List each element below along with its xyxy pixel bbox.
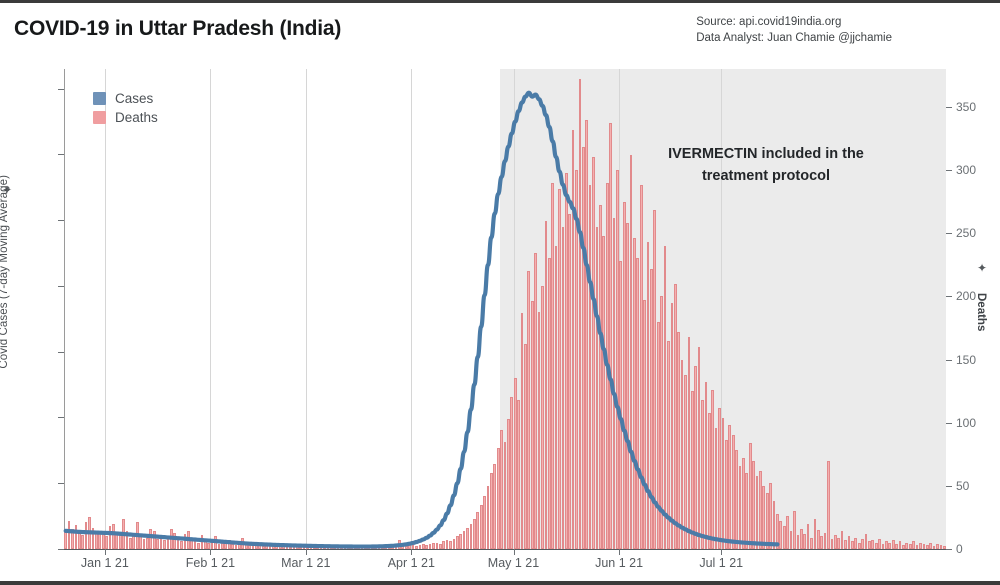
page-title: COVID-19 in Uttar Pradesh (India) bbox=[14, 17, 341, 41]
legend-swatch-deaths bbox=[93, 111, 106, 124]
chart-root: COVID-19 in Uttar Pradesh (India) Source… bbox=[0, 0, 1000, 585]
y-axis-right-tick-label: 350 bbox=[956, 100, 976, 114]
x-axis-line bbox=[64, 549, 946, 550]
y-axis-right-tick bbox=[946, 107, 952, 108]
y-axis-right-tick-label: 150 bbox=[956, 353, 976, 367]
annotation-line-2: treatment protocol bbox=[616, 165, 916, 187]
y-axis-right-tick bbox=[946, 360, 952, 361]
y-axis-right-tick-label: 50 bbox=[956, 479, 969, 493]
x-axis-tick bbox=[721, 549, 722, 555]
y-axis-right-tick bbox=[946, 170, 952, 171]
x-axis-tick-label: Feb 1 21 bbox=[186, 556, 235, 570]
x-axis-tick bbox=[411, 549, 412, 555]
source-attribution: Source: api.covid19india.org Data Analys… bbox=[696, 14, 892, 46]
y-axis-left-title: Covid Cases (7-day Moving Average) bbox=[0, 175, 14, 369]
pin-icon-right-axis[interactable]: ✦ bbox=[977, 261, 987, 275]
y-axis-right-tick-label: 100 bbox=[956, 416, 976, 430]
ivermectin-annotation: IVERMECTIN included in the treatment pro… bbox=[616, 143, 916, 187]
x-axis-tick-label: Jun 1 21 bbox=[595, 556, 643, 570]
y-axis-right-title: Deaths bbox=[975, 293, 987, 331]
x-axis-tick-label: Mar 1 21 bbox=[281, 556, 330, 570]
x-axis-tick bbox=[619, 549, 620, 555]
cases-line-layer bbox=[64, 69, 946, 549]
x-axis-tick bbox=[306, 549, 307, 555]
x-axis-tick-label: Jan 1 21 bbox=[81, 556, 129, 570]
y-axis-right-tick bbox=[946, 423, 952, 424]
y-axis-left-tick bbox=[58, 417, 64, 418]
legend-item-cases[interactable]: Cases bbox=[93, 89, 158, 108]
y-axis-right-tick bbox=[946, 233, 952, 234]
legend-swatch-cases bbox=[93, 92, 106, 105]
y-axis-left-tick bbox=[58, 352, 64, 353]
y-axis-right-tick bbox=[946, 549, 952, 550]
x-axis-tick-label: Apr 1 21 bbox=[388, 556, 435, 570]
x-axis-tick-label: Jul 1 21 bbox=[699, 556, 743, 570]
y-axis-right-tick-label: 200 bbox=[956, 289, 976, 303]
source-line: Source: api.covid19india.org bbox=[696, 14, 892, 30]
annotation-line-1: IVERMECTIN included in the bbox=[616, 143, 916, 165]
y-axis-right-tick-label: 250 bbox=[956, 226, 976, 240]
y-axis-left-tick bbox=[58, 154, 64, 155]
y-axis-left-tick bbox=[58, 549, 64, 550]
y-axis-left-tick bbox=[58, 89, 64, 90]
legend-label-deaths: Deaths bbox=[115, 110, 158, 125]
x-axis-tick bbox=[210, 549, 211, 555]
y-axis-right-tick bbox=[946, 296, 952, 297]
x-axis-tick-label: May 1 21 bbox=[488, 556, 539, 570]
x-axis-tick bbox=[105, 549, 106, 555]
y-axis-right-tick-label: 300 bbox=[956, 163, 976, 177]
analyst-line: Data Analyst: Juan Chamie @jjchamie bbox=[696, 30, 892, 46]
y-axis-left-tick bbox=[58, 483, 64, 484]
plot-area bbox=[64, 69, 946, 549]
y-axis-right-tick bbox=[946, 486, 952, 487]
legend: Cases Deaths bbox=[93, 89, 158, 127]
x-axis-tick bbox=[514, 549, 515, 555]
legend-label-cases: Cases bbox=[115, 91, 153, 106]
y-axis-left-tick bbox=[58, 286, 64, 287]
y-axis-left-tick bbox=[58, 220, 64, 221]
y-axis-right-tick-label: 0 bbox=[956, 542, 963, 556]
legend-item-deaths[interactable]: Deaths bbox=[93, 108, 158, 127]
